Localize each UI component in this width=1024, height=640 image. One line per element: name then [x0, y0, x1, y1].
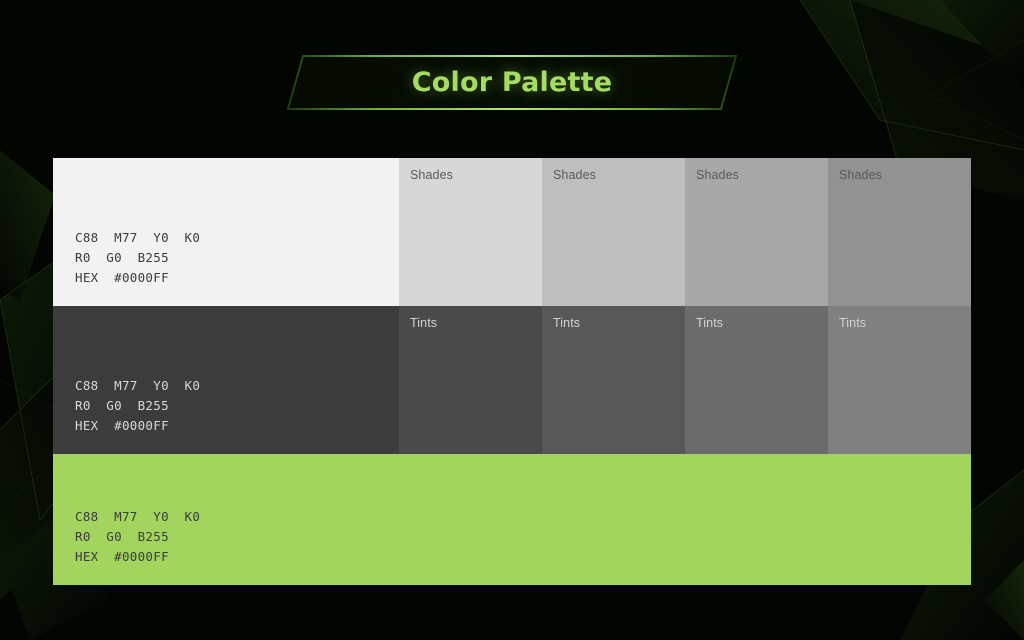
shade-swatch-2[interactable]: Shades [542, 158, 685, 306]
page-title: Color Palette [287, 54, 737, 111]
shade-swatch-4[interactable]: Shades [828, 158, 971, 306]
shade-swatch-label: Shades [839, 168, 882, 182]
shade-swatch-label: Shades [410, 168, 453, 182]
tint-swatch-label: Tints [696, 316, 723, 330]
palette-row-accent: C88 M77 Y0 K0 R0 G0 B255 HEX #0000FF [53, 454, 971, 585]
shade-swatch-1[interactable]: Shades [399, 158, 542, 306]
tint-swatch-4[interactable]: Tints [828, 306, 971, 454]
cmyk-value: C88 M77 Y0 K0 [75, 376, 399, 396]
shade-swatch-label: Shades [553, 168, 596, 182]
cmyk-value: C88 M77 Y0 K0 [75, 507, 971, 527]
color-info-cell-tints: C88 M77 Y0 K0 R0 G0 B255 HEX #0000FF [53, 306, 399, 454]
tint-swatch-label: Tints [839, 316, 866, 330]
tint-swatch-1[interactable]: Tints [399, 306, 542, 454]
rgb-value: R0 G0 B255 [75, 527, 971, 547]
cmyk-value: C88 M77 Y0 K0 [75, 228, 399, 248]
color-info-cell-shades: C88 M77 Y0 K0 R0 G0 B255 HEX #0000FF [53, 158, 399, 306]
rgb-value: R0 G0 B255 [75, 248, 399, 268]
tint-swatch-3[interactable]: Tints [685, 306, 828, 454]
shade-swatch-label: Shades [696, 168, 739, 182]
shade-swatch-3[interactable]: Shades [685, 158, 828, 306]
hex-value: HEX #0000FF [75, 416, 399, 436]
color-info-cell-accent: C88 M77 Y0 K0 R0 G0 B255 HEX #0000FF [53, 454, 971, 585]
tint-swatch-2[interactable]: Tints [542, 306, 685, 454]
palette-row-shades: C88 M77 Y0 K0 R0 G0 B255 HEX #0000FF Sha… [53, 158, 971, 306]
tint-swatch-label: Tints [553, 316, 580, 330]
tint-swatch-label: Tints [410, 316, 437, 330]
hex-value: HEX #0000FF [75, 547, 971, 567]
rgb-value: R0 G0 B255 [75, 396, 399, 416]
palette-row-tints: C88 M77 Y0 K0 R0 G0 B255 HEX #0000FF Tin… [53, 306, 971, 454]
title-banner: Color Palette [287, 54, 737, 111]
color-palette-table: C88 M77 Y0 K0 R0 G0 B255 HEX #0000FF Sha… [53, 158, 971, 585]
hex-value: HEX #0000FF [75, 268, 399, 288]
